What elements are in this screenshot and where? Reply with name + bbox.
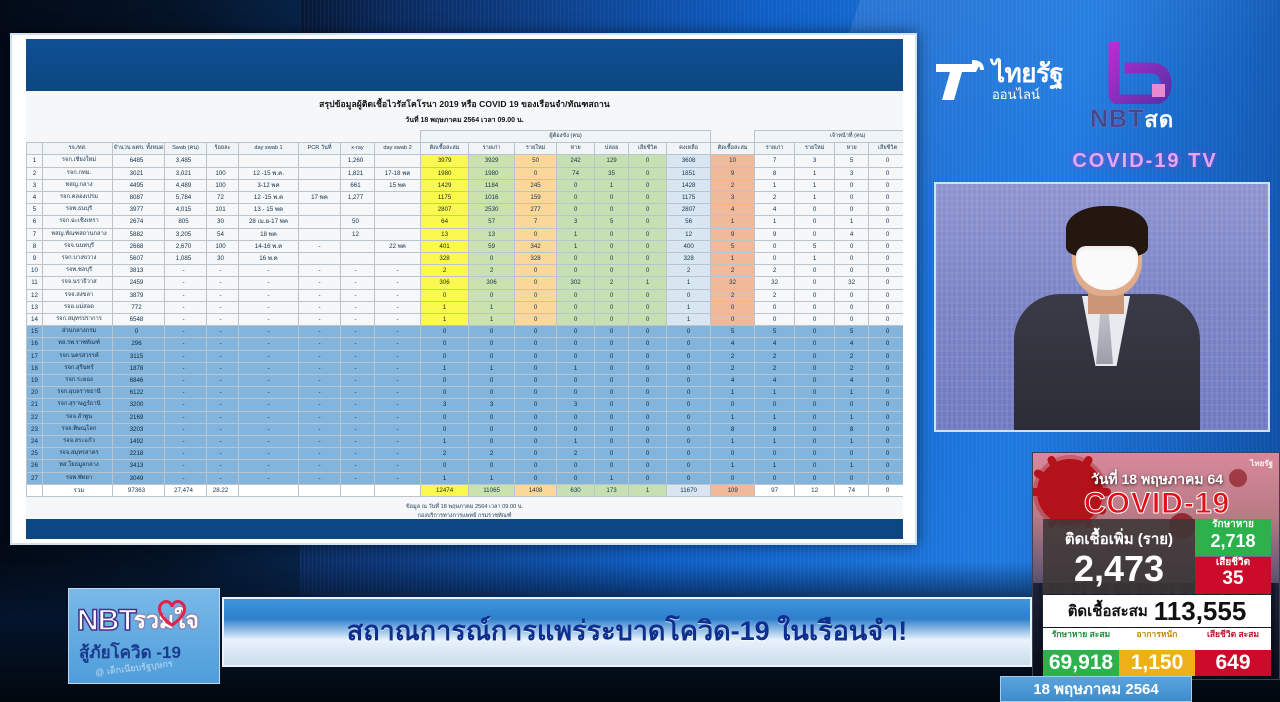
cell-i_new: 0 bbox=[515, 301, 557, 313]
cell-swab: 3,205 bbox=[165, 228, 207, 240]
cell-i_left: 0 bbox=[667, 375, 711, 387]
cell-i_old: 1184 bbox=[469, 179, 515, 191]
cumulative-label: ติดเชื้อสะสม bbox=[1068, 599, 1148, 623]
cell-i_rel: 0 bbox=[595, 387, 629, 399]
cell-i_new: 277 bbox=[515, 204, 557, 216]
cell-total: 2218 bbox=[113, 448, 165, 460]
cell-i_die: 0 bbox=[629, 375, 667, 387]
cell-i_die: 0 bbox=[629, 472, 667, 484]
cell-name: รจพ.พัทยา bbox=[43, 472, 113, 484]
cell-xray: - bbox=[341, 448, 375, 460]
cell-pcr: - bbox=[299, 338, 341, 350]
cell-name: รจก.สมุทรปราการ bbox=[43, 314, 113, 326]
cell-i_rel: 0 bbox=[595, 314, 629, 326]
cell-i_old: 0 bbox=[469, 436, 515, 448]
cell-i_rel: 0 bbox=[595, 204, 629, 216]
table-row: 24รจจ.สระแก้ว1492------1001000110100 bbox=[27, 436, 904, 448]
cell-i_left: 400 bbox=[667, 240, 711, 252]
cell-ds2 bbox=[375, 192, 421, 204]
cell-ds2: - bbox=[375, 350, 421, 362]
cell-ds2: - bbox=[375, 265, 421, 277]
cell-ds1: 18 พค bbox=[239, 228, 299, 240]
cell-i_new: 0 bbox=[515, 326, 557, 338]
cell-xray: - bbox=[341, 326, 375, 338]
cell-i_cum: 306 bbox=[421, 277, 469, 289]
cell-s_old: 9 bbox=[755, 228, 795, 240]
cell-i_die: 0 bbox=[629, 301, 667, 313]
cell-i_die: 1 bbox=[629, 277, 667, 289]
cell-name: รจจ.นราธิวาส bbox=[43, 277, 113, 289]
cell-ds1: - bbox=[239, 362, 299, 374]
column-header-8: day swab 2 bbox=[375, 143, 421, 155]
cell-no: 19 bbox=[27, 375, 43, 387]
cell-pcr: - bbox=[299, 448, 341, 460]
cell-ds2 bbox=[375, 204, 421, 216]
column-header-10: รายเก่า bbox=[469, 143, 515, 155]
cell-pcr: - bbox=[299, 301, 341, 313]
deaths-label: เสียชีวิต bbox=[1195, 557, 1271, 569]
cell-name: รจก.อุบลราชธานี bbox=[43, 387, 113, 399]
nbt-campaign-logo: NBT รวมใจ สู้ภัยโควิด -19 @ เด็กเนียบรัฐ… bbox=[68, 588, 220, 684]
cell-s_die: 0 bbox=[869, 350, 903, 362]
cell-s_old: 0 bbox=[755, 399, 795, 411]
cell-no: 16 bbox=[27, 338, 43, 350]
cell-s_new: 0 bbox=[795, 375, 835, 387]
cell-total: 4495 bbox=[113, 179, 165, 191]
cell-i_cum: 13 bbox=[421, 228, 469, 240]
cell-s_die: 0 bbox=[869, 326, 903, 338]
cell-total: 0 bbox=[113, 326, 165, 338]
cell-pcr: - bbox=[299, 289, 341, 301]
nbt-live-label: สด bbox=[1144, 107, 1174, 132]
cell-i_die: 0 bbox=[629, 326, 667, 338]
cell-xray: - bbox=[341, 289, 375, 301]
cell-s_old: 2 bbox=[755, 289, 795, 301]
cell-i_old: 0 bbox=[469, 423, 515, 435]
cell-i_old: 2530 bbox=[469, 204, 515, 216]
cell-s_new: 5 bbox=[795, 240, 835, 252]
recovered-cum-value: 69,918 bbox=[1043, 650, 1119, 676]
cell-s_cum: 8 bbox=[711, 423, 755, 435]
cell-ds2: - bbox=[375, 375, 421, 387]
cell-no: 25 bbox=[27, 448, 43, 460]
cell-total: 8087 bbox=[113, 192, 165, 204]
cell-i_left: 1 bbox=[667, 314, 711, 326]
thairath-mark-icon bbox=[932, 56, 986, 104]
cell-i_cum: 0 bbox=[421, 338, 469, 350]
headline-text: สถาณการณ์การแพร่ระบาดโควิด-19 ในเรือนจำ! bbox=[347, 609, 907, 652]
cell-no: 9 bbox=[27, 253, 43, 265]
cell-i_cum: 1 bbox=[421, 362, 469, 374]
cell-s_heal: 1 bbox=[835, 436, 869, 448]
cell-ds2: - bbox=[375, 436, 421, 448]
cell-s_cum: 0 bbox=[711, 472, 755, 484]
cell-swab: 3,485 bbox=[165, 155, 207, 167]
cell-pcr: - bbox=[299, 399, 341, 411]
cell-swab: - bbox=[165, 423, 207, 435]
cell-s_old: 1 bbox=[755, 436, 795, 448]
cell-pct: 28.22 bbox=[207, 484, 239, 496]
cell-ds2: - bbox=[375, 399, 421, 411]
cell-ds1: - bbox=[239, 326, 299, 338]
cell-ds2 bbox=[375, 216, 421, 228]
cell-name: รจจ.สงขลา bbox=[43, 289, 113, 301]
cell-pct: - bbox=[207, 326, 239, 338]
cumulative-value: 113,555 bbox=[1154, 596, 1247, 627]
cell-s_die: 0 bbox=[869, 167, 903, 179]
cell-i_old: 0 bbox=[469, 253, 515, 265]
cell-s_new: 0 bbox=[795, 204, 835, 216]
cell-total: 97363 bbox=[113, 484, 165, 496]
column-header-9: ติดเชื้อสะสม bbox=[421, 143, 469, 155]
cell-pcr: - bbox=[299, 326, 341, 338]
cell-s_new: 0 bbox=[795, 277, 835, 289]
cell-s_old: 1 bbox=[755, 216, 795, 228]
cell-swab: - bbox=[165, 436, 207, 448]
cell-ds2: - bbox=[375, 472, 421, 484]
cell-i_cum: 0 bbox=[421, 326, 469, 338]
cell-s_die: 0 bbox=[869, 289, 903, 301]
cell-ds1: 28 เม.ย-17 พค bbox=[239, 216, 299, 228]
cell-i_old: 57 bbox=[469, 216, 515, 228]
cell-i_cum: 401 bbox=[421, 240, 469, 252]
cell-ds1: - bbox=[239, 375, 299, 387]
cell-pcr: - bbox=[299, 436, 341, 448]
cell-xray: - bbox=[341, 387, 375, 399]
cell-total: 3200 bbox=[113, 399, 165, 411]
cell-s_die: 0 bbox=[869, 399, 903, 411]
cell-i_cum: 1 bbox=[421, 301, 469, 313]
cell-i_left: 2807 bbox=[667, 204, 711, 216]
cell-i_old: 13 bbox=[469, 228, 515, 240]
cell-i_old: 2 bbox=[469, 448, 515, 460]
cell-total: 3203 bbox=[113, 423, 165, 435]
table-row: 23รจจ.พิษณุโลก3203------0000000880800 bbox=[27, 423, 904, 435]
cell-s_new: 0 bbox=[795, 326, 835, 338]
cell-s_old: 2 bbox=[755, 350, 795, 362]
header-group-staff: เจ้าหน้าที่ (คน) bbox=[755, 131, 903, 143]
cell-s_old: 0 bbox=[755, 472, 795, 484]
cell-s_old: 4 bbox=[755, 204, 795, 216]
document-bottom-bar bbox=[26, 519, 903, 539]
cell-no: 3 bbox=[27, 179, 43, 191]
cell-xray: - bbox=[341, 277, 375, 289]
cell-total: 2668 bbox=[113, 240, 165, 252]
cell-i_cum: 2807 bbox=[421, 204, 469, 216]
cell-i_die: 0 bbox=[629, 387, 667, 399]
cell-pct: - bbox=[207, 460, 239, 472]
cell-i_rel: 0 bbox=[595, 338, 629, 350]
cell-swab: - bbox=[165, 387, 207, 399]
cell-total: 3813 bbox=[113, 265, 165, 277]
cell-i_heal: 0 bbox=[557, 472, 595, 484]
cell-i_die: 0 bbox=[629, 228, 667, 240]
cell-pct: - bbox=[207, 472, 239, 484]
cell-swab: 27,474 bbox=[165, 484, 207, 496]
cell-no: 14 bbox=[27, 314, 43, 326]
cell-s_heal: 2 bbox=[835, 350, 869, 362]
cell-i_rel: 0 bbox=[595, 411, 629, 423]
cell-i_rel: 35 bbox=[595, 167, 629, 179]
cell-ds1: 12 -15 พ.ค bbox=[239, 192, 299, 204]
cell-i_old: 0 bbox=[469, 411, 515, 423]
table-row: 9รจก.บางขวาง56071,0853016 พ.ค32803280003… bbox=[27, 253, 904, 265]
cell-i_new: 0 bbox=[515, 436, 557, 448]
cell-s_die: 0 bbox=[869, 375, 903, 387]
cell-i_heal: 0 bbox=[557, 253, 595, 265]
cell-xray: - bbox=[341, 265, 375, 277]
cell-i_rel: 0 bbox=[595, 423, 629, 435]
cell-xray: - bbox=[341, 338, 375, 350]
cell-pcr bbox=[299, 155, 341, 167]
cell-s_new: 0 bbox=[795, 362, 835, 374]
card-side-blocks: รักษาหาย 2,718 เสียชีวิต 35 bbox=[1195, 519, 1271, 594]
deaths-value: 35 bbox=[1195, 569, 1271, 589]
cell-xray: - bbox=[341, 350, 375, 362]
cell-i_heal: 0 bbox=[557, 289, 595, 301]
cell-i_die: 0 bbox=[629, 192, 667, 204]
cell-i_heal: 0 bbox=[557, 387, 595, 399]
cell-ds2: - bbox=[375, 314, 421, 326]
cell-i_rel: 0 bbox=[595, 375, 629, 387]
cell-no: 11 bbox=[27, 277, 43, 289]
cell-i_old: 0 bbox=[469, 387, 515, 399]
cell-s_heal: 1 bbox=[835, 460, 869, 472]
cell-xray bbox=[341, 484, 375, 496]
cell-i_new: 0 bbox=[515, 228, 557, 240]
cell-i_heal: 0 bbox=[557, 350, 595, 362]
cell-swab: 2,670 bbox=[165, 240, 207, 252]
cell-swab: - bbox=[165, 362, 207, 374]
cell-i_new: 0 bbox=[515, 448, 557, 460]
cell-s_old: 1 bbox=[755, 387, 795, 399]
cell-pcr: - bbox=[299, 314, 341, 326]
cell-i_rel: 0 bbox=[595, 301, 629, 313]
cell-i_old: 11065 bbox=[469, 484, 515, 496]
cell-s_heal: 0 bbox=[835, 301, 869, 313]
column-header-5: day swab 1 bbox=[239, 143, 299, 155]
cell-pct: 72 bbox=[207, 192, 239, 204]
cell-xray: 1,821 bbox=[341, 167, 375, 179]
cell-pct: 54 bbox=[207, 228, 239, 240]
cell-no: 6 bbox=[27, 216, 43, 228]
cell-ds1: 16 พ.ค bbox=[239, 253, 299, 265]
cell-s_die: 0 bbox=[869, 314, 903, 326]
date-chip: 18 พฤษภาคม 2564 bbox=[1000, 676, 1192, 702]
cell-xray: - bbox=[341, 472, 375, 484]
nbt-glyph-icon bbox=[1100, 42, 1178, 104]
cell-s_heal: 0 bbox=[835, 265, 869, 277]
cell-s_die: 0 bbox=[869, 423, 903, 435]
cell-ds1: - bbox=[239, 411, 299, 423]
cell-i_old: 1 bbox=[469, 362, 515, 374]
cell-s_old: 0 bbox=[755, 240, 795, 252]
cell-pcr: - bbox=[299, 460, 341, 472]
cell-s_new: 0 bbox=[795, 350, 835, 362]
cell-i_rel: 0 bbox=[595, 436, 629, 448]
cell-ds2: - bbox=[375, 460, 421, 472]
cell-pct: 30 bbox=[207, 253, 239, 265]
cell-i_rel: 5 bbox=[595, 216, 629, 228]
cell-s_die: 0 bbox=[869, 338, 903, 350]
cell-pcr: - bbox=[299, 375, 341, 387]
cell-i_new: 50 bbox=[515, 155, 557, 167]
column-header-12: หาย bbox=[557, 143, 595, 155]
cell-swab: - bbox=[165, 350, 207, 362]
table-row: 27รจพ.พัทยา3049------1100100000000 bbox=[27, 472, 904, 484]
cell-i_new: 1408 bbox=[515, 484, 557, 496]
cell-s_cum: 9 bbox=[711, 167, 755, 179]
cell-i_left: 0 bbox=[667, 399, 711, 411]
cell-i_rel: 0 bbox=[595, 192, 629, 204]
cell-s_new: 1 bbox=[795, 167, 835, 179]
cell-i_die: 0 bbox=[629, 204, 667, 216]
cell-s_heal: 0 bbox=[835, 472, 869, 484]
document-subtitle: วันที่ 18 พฤษภาคม 2564 เวลา 09.00 น. bbox=[26, 111, 903, 130]
cell-s_heal: 74 bbox=[835, 484, 869, 496]
cell-i_cum: 1 bbox=[421, 314, 469, 326]
cell-i_die: 0 bbox=[629, 411, 667, 423]
cell-total: 3049 bbox=[113, 472, 165, 484]
severe-value: 1,150 bbox=[1119, 650, 1195, 676]
cell-s_heal: 32 bbox=[835, 277, 869, 289]
cell-s_old: 7 bbox=[755, 155, 795, 167]
cell-ds1: - bbox=[239, 387, 299, 399]
card-cumulative-row: รักษาหาย สะสม 69,918 อาการหนัก 1,150 เสี… bbox=[1043, 628, 1271, 676]
table-row: 5รจพ.ธนบุรี39774,01510113 - 15 พค2807253… bbox=[27, 204, 904, 216]
cell-total: 296 bbox=[113, 338, 165, 350]
cell-s_old: 2 bbox=[755, 362, 795, 374]
cell-s_cum: 1 bbox=[711, 436, 755, 448]
column-header-15: คงเหลือ bbox=[667, 143, 711, 155]
cell-i_left: 1 bbox=[667, 277, 711, 289]
table-body: 1รจก.เชียงใหม่64853,4851,260397939295024… bbox=[27, 155, 904, 497]
cell-i_old: 1 bbox=[469, 472, 515, 484]
headline-banner: สถาณการณ์การแพร่ระบาดโควิด-19 ในเรือนจำ! bbox=[222, 597, 1032, 667]
cell-i_new: 0 bbox=[515, 277, 557, 289]
table-row: 12รจจ.สงขลา3879------0000000220002 bbox=[27, 289, 904, 301]
cell-pcr: - bbox=[299, 387, 341, 399]
cell-pct: - bbox=[207, 301, 239, 313]
cell-s_die: 0 bbox=[869, 277, 903, 289]
thairath-sub: ออนไลน์ bbox=[992, 88, 1063, 101]
cell-i_left: 3608 bbox=[667, 155, 711, 167]
cell-s_cum: 5 bbox=[711, 240, 755, 252]
cell-name: รจจ.นนทบุรี bbox=[43, 240, 113, 252]
cell-xray: 12 bbox=[341, 228, 375, 240]
cell-total: 772 bbox=[113, 301, 165, 313]
cell-name: ทสญ.กลาง bbox=[43, 179, 113, 191]
cell-swab: - bbox=[165, 326, 207, 338]
cell-s_new: 0 bbox=[795, 423, 835, 435]
cell-no: 27 bbox=[27, 472, 43, 484]
cell-s_heal: 0 bbox=[835, 314, 869, 326]
cell-swab: 4,015 bbox=[165, 204, 207, 216]
cell-pct: - bbox=[207, 350, 239, 362]
cell-total: 5607 bbox=[113, 253, 165, 265]
cell-i_rel: 0 bbox=[595, 460, 629, 472]
cell-ds2 bbox=[375, 484, 421, 496]
cell-i_die: 0 bbox=[629, 179, 667, 191]
cell-i_heal: 0 bbox=[557, 423, 595, 435]
cell-i_die: 0 bbox=[629, 338, 667, 350]
cell-i_old: 0 bbox=[469, 326, 515, 338]
cell-i_rel: 173 bbox=[595, 484, 629, 496]
cell-xray: 1,260 bbox=[341, 155, 375, 167]
cell-i_cum: 0 bbox=[421, 375, 469, 387]
cell-i_heal: 0 bbox=[557, 265, 595, 277]
cell-total: 3021 bbox=[113, 167, 165, 179]
cell-s_heal: 0 bbox=[835, 192, 869, 204]
cell-pcr: - bbox=[299, 240, 341, 252]
cell-i_new: 0 bbox=[515, 289, 557, 301]
cell-name: ทส.โยธมูลกลาง bbox=[43, 460, 113, 472]
table-total-row: รวม9736327,47428.22124741106514086301731… bbox=[27, 484, 904, 496]
cell-i_left: 1175 bbox=[667, 192, 711, 204]
cell-s_heal: 1 bbox=[835, 411, 869, 423]
cell-xray: - bbox=[341, 314, 375, 326]
cell-pcr: - bbox=[299, 362, 341, 374]
footer-line-1: ข้อมูล ณ วันที่ 18 พฤษภาคม 2564 เวลา 09.… bbox=[26, 503, 903, 512]
cell-pct: - bbox=[207, 399, 239, 411]
cell-name: รจอ.แม่สอด bbox=[43, 301, 113, 313]
cell-s_cum: 10 bbox=[711, 155, 755, 167]
recovered-cum-block: รักษาหาย สะสม 69,918 bbox=[1043, 628, 1119, 676]
table-row: 20รจก.อุบลราชธานี6122------0000000110100 bbox=[27, 387, 904, 399]
cell-s_old: 0 bbox=[755, 448, 795, 460]
cell-pct: - bbox=[207, 362, 239, 374]
cell-i_old: 1980 bbox=[469, 167, 515, 179]
cell-no: 7 bbox=[27, 228, 43, 240]
cell-ds1: - bbox=[239, 399, 299, 411]
cell-i_heal: 0 bbox=[557, 314, 595, 326]
cell-i_new: 0 bbox=[515, 314, 557, 326]
cell-s_heal: 4 bbox=[835, 228, 869, 240]
cell-i_left: 1851 bbox=[667, 167, 711, 179]
cell-s_cum: 9 bbox=[711, 228, 755, 240]
cell-s_cum: 109 bbox=[711, 484, 755, 496]
cell-name: รจก.นครสวรรค์ bbox=[43, 350, 113, 362]
cell-s_heal: 2 bbox=[835, 362, 869, 374]
cell-swab: 4,489 bbox=[165, 179, 207, 191]
cell-name: รจจ.ลำพูน bbox=[43, 411, 113, 423]
cell-s_old: 2 bbox=[755, 192, 795, 204]
cell-s_heal: 0 bbox=[835, 240, 869, 252]
cell-i_new: 0 bbox=[515, 411, 557, 423]
cell-no: 2 bbox=[27, 167, 43, 179]
cell-s_cum: 2 bbox=[711, 362, 755, 374]
cell-s_die: 0 bbox=[869, 362, 903, 374]
table-row: 14รจก.สมุทรปราการ6548------1100001000000 bbox=[27, 314, 904, 326]
cell-i_new: 342 bbox=[515, 240, 557, 252]
covid-prison-table: ผู้ต้องขัง (คน) เจ้าหน้าที่ (คน) รจ./ทส.… bbox=[26, 130, 903, 497]
cell-s_old: 8 bbox=[755, 423, 795, 435]
cell-no: 23 bbox=[27, 423, 43, 435]
nbt-logo: NBTสด bbox=[1090, 42, 1260, 142]
cell-i_old: 0 bbox=[469, 460, 515, 472]
cell-i_left: 0 bbox=[667, 472, 711, 484]
column-header-18: รายใหม่ bbox=[795, 143, 835, 155]
cell-i_cum: 1 bbox=[421, 472, 469, 484]
cell-i_heal: 0 bbox=[557, 204, 595, 216]
cell-s_cum: 3 bbox=[711, 192, 755, 204]
cell-i_left: 0 bbox=[667, 289, 711, 301]
cell-ds1: - bbox=[239, 338, 299, 350]
cell-i_left: 11670 bbox=[667, 484, 711, 496]
cell-total: 6548 bbox=[113, 314, 165, 326]
cell-s_heal: 0 bbox=[835, 448, 869, 460]
recovered-cum-label: รักษาหาย สะสม bbox=[1043, 628, 1119, 650]
